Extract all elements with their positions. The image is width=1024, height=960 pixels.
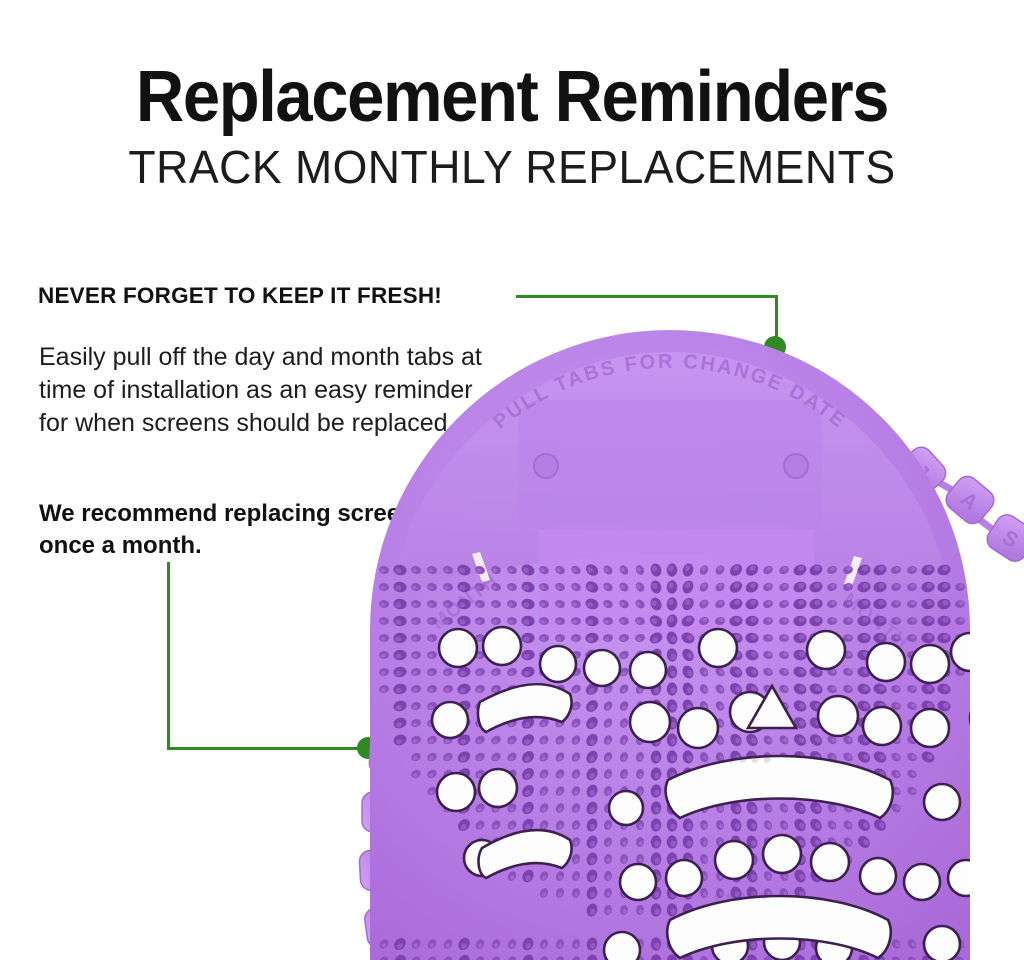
callout-heading: NEVER FORGET TO KEEP IT FRESH! [38, 283, 442, 309]
svg-text:•••••: ••••• [714, 883, 771, 910]
connector-top-horizontal [516, 295, 778, 298]
vent-hole-right [784, 454, 808, 478]
poster-root: Replacement Reminders TRACK MONTHLY REPL… [0, 0, 1024, 960]
urinal-screen-svg: J F M A M [330, 330, 1024, 960]
page-title: Replacement Reminders [36, 58, 988, 136]
svg-text:••••••: •••••• [702, 744, 775, 774]
vent-hole-left [534, 454, 558, 478]
page-subtitle: TRACK MONTHLY REPLACEMENTS [15, 140, 1008, 194]
connector-bottom-vertical [167, 562, 170, 750]
urinal-screen-graphic: J F M A M [330, 330, 1024, 960]
